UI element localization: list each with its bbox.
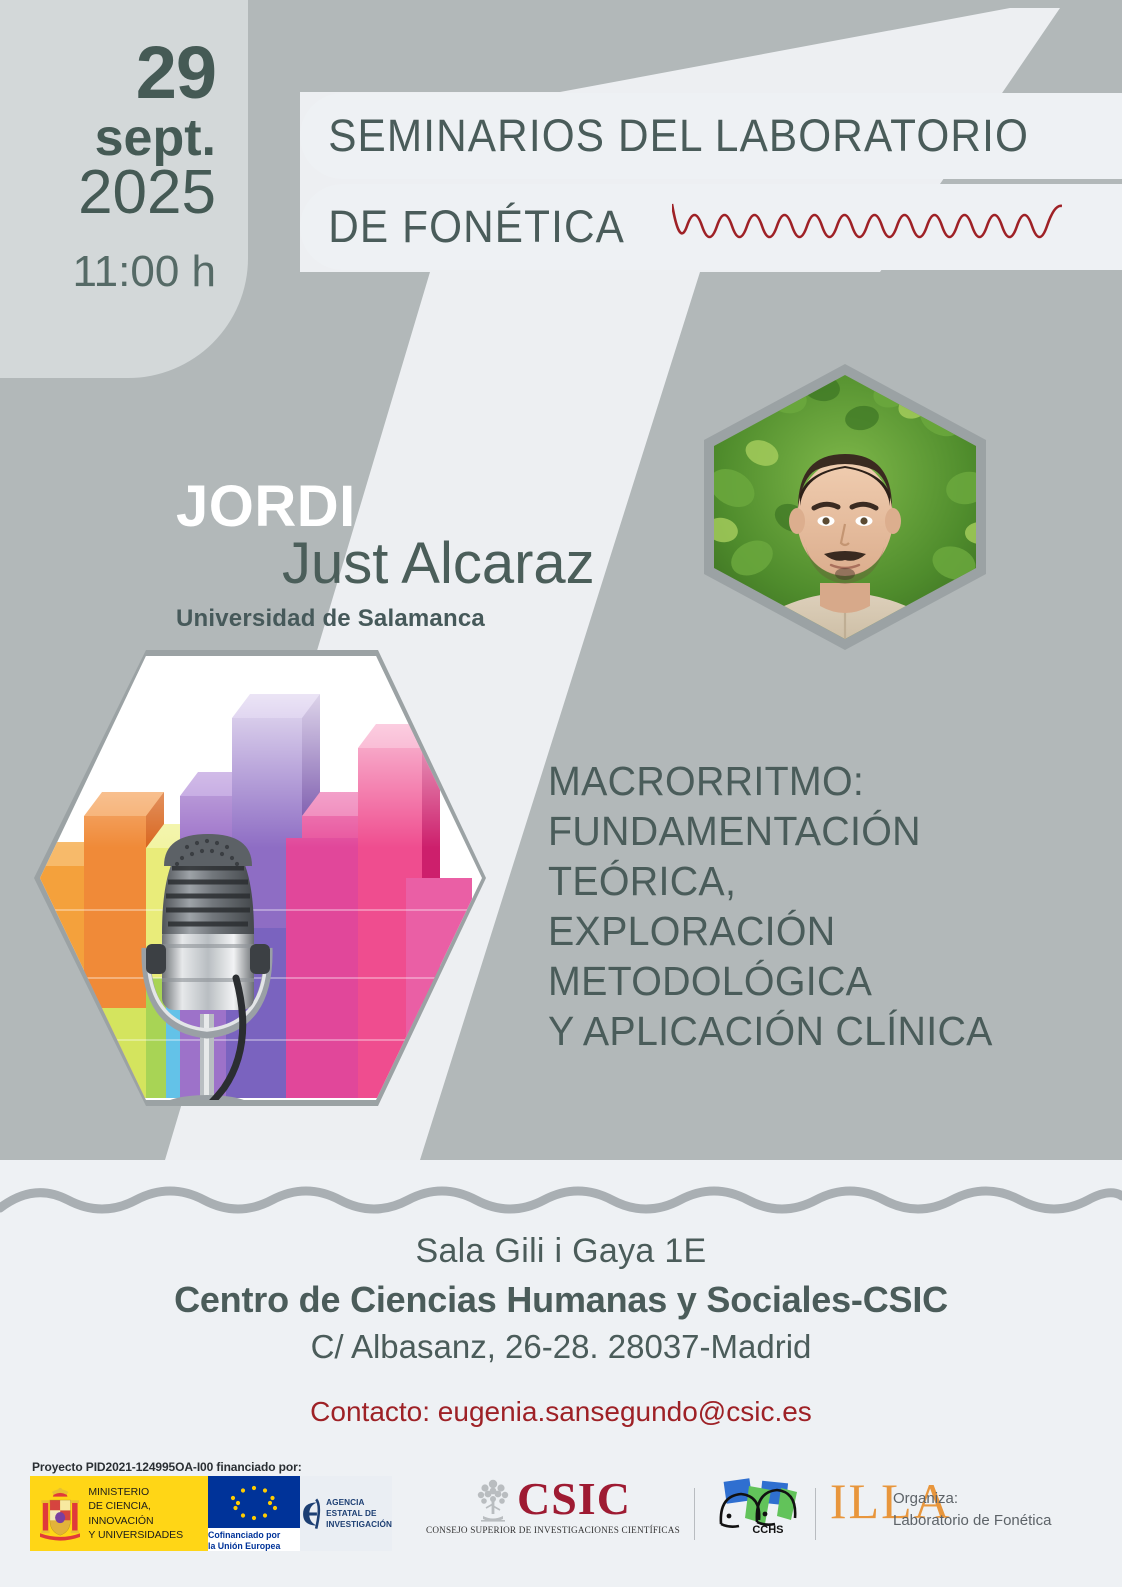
cchs-logo: CCHS: [709, 1476, 801, 1536]
header-title-line2: DE FONÉTICA: [300, 201, 625, 253]
venue-center: Centro de Ciencias Humanas y Sociales-CS…: [0, 1279, 1122, 1321]
aei-line-3: INVESTIGACIÓN: [326, 1519, 392, 1530]
speaker-block: JORDI Just Alcaraz Universidad de Salama…: [176, 478, 696, 633]
aei-text: AGENCIA ESTATAL DE INVESTIGACIÓN: [326, 1497, 392, 1530]
eu-caption: Cofinanciado por la Unión Europea: [208, 1528, 300, 1551]
date-panel: 29 sept. 2025 11:00 h: [0, 0, 248, 378]
talk-title-line-1: MACRORRITMO:: [548, 756, 1066, 806]
organiza-label: Organiza:: [893, 1488, 1051, 1510]
contact-email[interactable]: Contacto: eugenia.sansegundo@csic.es: [0, 1396, 1122, 1428]
talk-title: MACRORRITMO: FUNDAMENTACIÓN TEÓRICA, EXP…: [548, 756, 1066, 1056]
csic-tree-icon: [475, 1476, 511, 1522]
csic-word: CSIC: [517, 1476, 631, 1522]
talk-title-line-2: FUNDAMENTACIÓN: [548, 806, 1066, 856]
poster-root: 29 sept. 2025 11:00 h SEMINARIOS DEL LAB…: [0, 0, 1122, 1587]
ministry-line-3: Y UNIVERSIDADES: [88, 1528, 208, 1542]
csic-subtitle: Consejo Superior de Investigaciones Cien…: [426, 1525, 680, 1535]
logo-row: MINISTERIO DE CIENCIA, INNOVACIÓN Y UNIV…: [30, 1476, 952, 1551]
organiza-value: Laboratorio de Fonética: [893, 1510, 1051, 1532]
talk-title-line-5: METODOLÓGICA: [548, 956, 1066, 1006]
speaker-portrait: [692, 358, 998, 656]
csic-logo: CSIC Consejo Superior de Investigaciones…: [426, 1476, 680, 1535]
speaker-first-name: JORDI: [176, 478, 696, 536]
cchs-label: CCHS: [752, 1524, 783, 1536]
ministry-text: MINISTERIO DE CIENCIA, INNOVACIÓN Y UNIV…: [88, 1485, 208, 1542]
spain-coat-of-arms-icon: [40, 1485, 80, 1543]
date-day: 29: [0, 36, 216, 110]
divider-2: [815, 1488, 816, 1540]
eu-flag-icon: [208, 1476, 300, 1528]
talk-title-line-6: Y APLICACIÓN CLÍNICA: [548, 1006, 1066, 1056]
talk-title-line-3: TEÓRICA,: [548, 856, 1066, 906]
venue-block: Sala Gili i Gaya 1E Centro de Ciencias H…: [0, 1232, 1122, 1428]
ministry-logo: MINISTERIO DE CIENCIA, INNOVACIÓN Y UNIV…: [30, 1476, 208, 1551]
wavy-divider: [0, 1180, 1122, 1220]
venue-room: Sala Gili i Gaya 1E: [0, 1232, 1122, 1271]
ministry-line-2: DE CIENCIA, INNOVACIÓN: [88, 1499, 208, 1527]
venue-address: C/ Albasanz, 26-28. 28037-Madrid: [0, 1328, 1122, 1366]
eu-logo: Cofinanciado por la Unión Europea: [208, 1476, 300, 1551]
date-year: 2025: [0, 162, 216, 224]
aei-emblem-icon: [300, 1493, 323, 1535]
aei-line-1: AGENCIA: [326, 1497, 392, 1508]
aei-line-2: ESTATAL DE: [326, 1508, 392, 1519]
speaker-last-name: Just Alcaraz: [282, 534, 696, 595]
funding-label: Proyecto PID2021-124995OA-I00 financiado…: [32, 1460, 302, 1474]
speaker-affiliation: Universidad de Salamanca: [176, 605, 696, 633]
date-month: sept.: [0, 112, 216, 164]
talk-title-line-4: EXPLORACIÓN: [548, 906, 1066, 956]
aei-logo: AGENCIA ESTATAL DE INVESTIGACIÓN: [300, 1476, 392, 1551]
organiza-block: Organiza: Laboratorio de Fonética: [893, 1488, 1051, 1532]
eu-line-1: Cofinanciado por: [208, 1530, 300, 1541]
divider-1: [694, 1488, 695, 1540]
header-title-line1: SEMINARIOS DEL LABORATORIO: [300, 110, 1029, 162]
footer: Proyecto PID2021-124995OA-I00 financiado…: [0, 1452, 1122, 1587]
date-time: 11:00 h: [0, 250, 216, 294]
date-block: 29 sept. 2025 11:00 h: [0, 36, 216, 294]
microphone-illustration: [0, 648, 486, 1108]
header-bar-line1: SEMINARIOS DEL LABORATORIO: [300, 93, 1122, 179]
ministry-line-1: MINISTERIO: [88, 1485, 208, 1499]
eu-line-2: la Unión Europea: [208, 1541, 300, 1552]
csic-wordmark: CSIC: [475, 1476, 631, 1522]
sound-wave-icon: [672, 196, 1062, 256]
